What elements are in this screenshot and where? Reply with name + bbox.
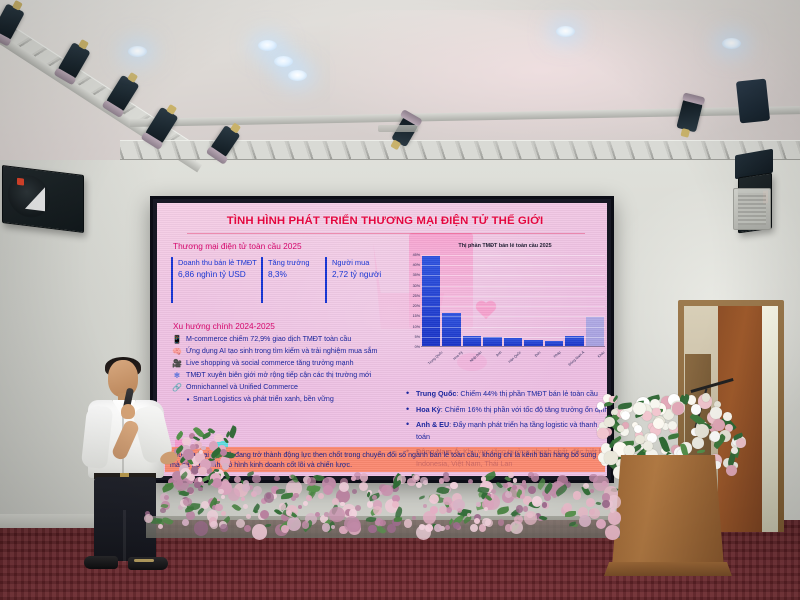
flower-bloom bbox=[329, 507, 345, 523]
ceiling-downlight-icon bbox=[274, 56, 293, 67]
chart-title: Thị phần TMĐT bán lẻ toàn cầu 2025 bbox=[401, 243, 607, 249]
wall-air-vent bbox=[733, 188, 771, 230]
flower-bloom bbox=[220, 524, 227, 531]
flower-bloom bbox=[513, 478, 518, 483]
flower-bloom bbox=[331, 525, 335, 529]
flower-bloom bbox=[264, 492, 275, 503]
chart-bar bbox=[483, 337, 501, 346]
list-item: 🧠 Ứng dụng AI tạo sinh trong tìm kiếm và… bbox=[171, 347, 403, 357]
flower-bloom bbox=[443, 497, 452, 506]
vent-grille-icon bbox=[738, 193, 766, 225]
pa-speaker-left bbox=[2, 165, 84, 233]
flower-bloom bbox=[381, 485, 392, 496]
flower-bloom bbox=[351, 476, 355, 480]
flower-bloom bbox=[183, 449, 193, 459]
chart-bar bbox=[545, 341, 563, 346]
list-item: Anh & EU: Đẩy mạnh phát triển hạ tầng lo… bbox=[405, 420, 607, 430]
chart-y-tick-label: 30% bbox=[402, 284, 420, 288]
chart-y-tick-label: 15% bbox=[402, 314, 420, 318]
trouser-seam bbox=[123, 510, 126, 562]
conference-room-scene: TÌNH HÌNH PHÁT TRIỂN THƯƠNG MẠI ĐIỆN TỬ … bbox=[0, 0, 800, 600]
flower-bloom bbox=[182, 519, 189, 526]
market-share-chart: Thị phần TMĐT bán lẻ toàn cầu 2025 45%40… bbox=[401, 243, 607, 383]
chart-gridline bbox=[421, 286, 605, 287]
flower-bloom bbox=[368, 525, 377, 534]
region-text: : Chiếm 44% thị phần TMĐT bán lẻ toàn cầ… bbox=[456, 389, 598, 398]
metric-value: 6,86 nghìn tỷ USD bbox=[178, 269, 246, 279]
title-underline bbox=[187, 233, 585, 234]
metric-label: Người mua bbox=[332, 258, 369, 267]
flower-bloom bbox=[590, 489, 594, 493]
flower-bloom bbox=[306, 495, 312, 501]
flower-bloom bbox=[668, 421, 677, 430]
flower-bloom bbox=[597, 428, 609, 440]
flower-leaf bbox=[393, 517, 402, 522]
flower-bloom bbox=[583, 483, 589, 489]
flower-bloom bbox=[387, 524, 396, 533]
flower-leaf bbox=[232, 503, 242, 513]
flower-bloom bbox=[503, 483, 508, 488]
list-item-continuation: toán bbox=[405, 432, 607, 442]
flower-bloom bbox=[710, 407, 721, 418]
ceiling-downlight-icon bbox=[722, 38, 741, 49]
region-text: : Chiếm 16% thị phần với tốc độ tăng trư… bbox=[441, 405, 607, 414]
metric-card-buyers: Người mua 2,72 tỷ người bbox=[325, 257, 401, 303]
flower-bloom bbox=[324, 478, 328, 482]
flower-bloom bbox=[221, 495, 225, 499]
section-heading-key-trends: Xu hướng chính 2024-2025 bbox=[173, 321, 275, 331]
flower-bloom bbox=[144, 514, 153, 523]
ceiling-vent bbox=[378, 125, 418, 132]
doorway-daylight bbox=[762, 306, 778, 532]
flower-leaf bbox=[223, 437, 229, 444]
flower-bloom bbox=[414, 475, 419, 480]
flower-bloom bbox=[633, 402, 646, 415]
region-text: : Đẩy mạnh phát triển hạ tầng logistic v… bbox=[449, 420, 597, 429]
flower-bloom bbox=[604, 451, 618, 465]
flower-bloom bbox=[372, 495, 377, 500]
flower-bloom bbox=[723, 412, 732, 421]
flower-bloom bbox=[617, 425, 624, 432]
stage-flower-row bbox=[146, 468, 620, 538]
flower-bloom bbox=[215, 504, 223, 512]
flower-bloom bbox=[692, 437, 704, 449]
flower-bloom bbox=[218, 489, 223, 494]
region-name: Trung Quốc bbox=[416, 389, 456, 398]
flower-bloom bbox=[360, 473, 369, 482]
ai-brain-icon: 🧠 bbox=[172, 347, 182, 356]
trend-text: Live shopping và social commerce tăng tr… bbox=[186, 359, 354, 367]
flower-bloom bbox=[183, 498, 191, 506]
flower-bloom bbox=[605, 525, 620, 540]
flower-bloom bbox=[482, 518, 491, 527]
speaker-highlight bbox=[25, 185, 45, 211]
flower-bloom bbox=[429, 494, 439, 504]
flower-leaf bbox=[595, 501, 601, 506]
chart-gridline bbox=[421, 265, 605, 266]
flower-bloom bbox=[528, 486, 537, 495]
flower-leaf bbox=[418, 495, 425, 500]
flower-bloom bbox=[532, 496, 542, 506]
chart-gridline bbox=[421, 337, 605, 338]
chart-y-tick-label: 0% bbox=[402, 345, 420, 349]
ceiling-downlight-icon bbox=[288, 70, 307, 81]
flower-bloom bbox=[252, 524, 267, 539]
flower-bloom bbox=[298, 505, 302, 509]
flower-bloom bbox=[457, 508, 462, 513]
chart-gridline bbox=[421, 316, 605, 317]
flower-bloom bbox=[228, 488, 241, 501]
list-item: ❄ TMĐT xuyên biên giới mở rộng tiếp cận … bbox=[171, 371, 403, 381]
section-heading-global-ecommerce: Thương mại điện tử toàn cầu 2025 bbox=[173, 241, 302, 251]
flower-bloom bbox=[450, 482, 458, 490]
corner-speaker bbox=[736, 79, 770, 124]
speaker-led-icon bbox=[17, 178, 24, 186]
chart-bar bbox=[422, 256, 440, 346]
chart-plot-area: 45%40%35%30%25%20%15%10%5%0% bbox=[421, 255, 605, 347]
chart-bar bbox=[586, 317, 604, 346]
flower-bloom bbox=[474, 518, 480, 524]
chart-bar bbox=[504, 338, 522, 346]
chart-bar bbox=[524, 340, 542, 346]
flower-bloom bbox=[522, 480, 527, 485]
flower-bloom bbox=[589, 508, 600, 519]
flower-bloom bbox=[484, 507, 488, 511]
flower-bloom bbox=[303, 501, 308, 506]
flower-bloom bbox=[416, 525, 431, 540]
trend-text: Smart Logistics và phát triển xanh, bền … bbox=[193, 395, 334, 403]
flower-bloom bbox=[322, 523, 330, 531]
flower-bloom bbox=[726, 465, 737, 476]
flower-leaf bbox=[697, 449, 705, 453]
flower-bloom bbox=[653, 418, 664, 429]
flower-bloom bbox=[286, 510, 292, 516]
flower-bloom bbox=[514, 515, 523, 524]
list-item: Hoa Kỳ: Chiếm 16% thị phần với tốc độ tă… bbox=[405, 405, 607, 415]
podium-base bbox=[604, 562, 732, 576]
flower-bloom bbox=[279, 503, 286, 510]
flower-leaf bbox=[161, 483, 174, 493]
region-name: Hoa Kỳ bbox=[416, 405, 441, 414]
chart-y-tick-label: 35% bbox=[402, 273, 420, 277]
list-item: 📱 M-commerce chiếm 72,9% giao dịch TMĐT … bbox=[171, 335, 403, 345]
flower-bloom bbox=[610, 508, 615, 513]
chart-y-tick-label: 40% bbox=[402, 263, 420, 267]
flower-bloom bbox=[324, 512, 328, 516]
trend-text: M-commerce chiếm 72,9% giao dịch TMĐT to… bbox=[186, 335, 351, 343]
ceiling-downlight-icon bbox=[556, 26, 575, 37]
presenter-shoe-left bbox=[84, 556, 118, 569]
flower-bloom bbox=[604, 417, 615, 428]
flower-bloom bbox=[443, 476, 449, 482]
ceiling-downlight-icon bbox=[258, 40, 277, 51]
metric-value: 2,72 tỷ người bbox=[332, 269, 381, 279]
flower-bloom bbox=[243, 504, 248, 509]
flower-bloom bbox=[710, 431, 720, 441]
ceiling-downlight-icon bbox=[128, 46, 147, 57]
region-text: toán bbox=[416, 432, 430, 441]
region-name: Anh & EU bbox=[416, 420, 449, 429]
flower-bloom bbox=[339, 482, 349, 492]
chart-bars bbox=[421, 255, 605, 346]
trend-text: TMĐT xuyên biên giới mở rộng tiếp cận cá… bbox=[186, 371, 371, 379]
slide-title: TÌNH HÌNH PHÁT TRIỂN THƯƠNG MẠI ĐIỆN TỬ … bbox=[157, 215, 607, 227]
flower-bloom bbox=[186, 511, 194, 519]
flower-bloom bbox=[332, 498, 339, 505]
trend-text: Omnichannel và Unified Commerce bbox=[186, 383, 298, 391]
chart-y-tick-label: 10% bbox=[402, 325, 420, 329]
chart-y-tick-label: 5% bbox=[402, 335, 420, 339]
flower-bloom bbox=[430, 506, 437, 513]
chart-x-axis-labels: Trung QuốcHoa KỳNhật BảnAnhHàn QuốcĐứcPh… bbox=[421, 349, 605, 379]
flower-bloom bbox=[634, 425, 642, 433]
flower-bloom bbox=[423, 504, 427, 508]
flower-bloom bbox=[318, 493, 324, 499]
flower-bloom bbox=[323, 485, 333, 495]
chart-y-tick-label: 25% bbox=[402, 294, 420, 298]
flower-bloom bbox=[446, 507, 452, 513]
chart-gridline bbox=[421, 296, 605, 297]
flower-bloom bbox=[476, 502, 480, 506]
chart-gridline bbox=[421, 327, 605, 328]
flower-bloom bbox=[491, 489, 496, 494]
flower-leaf bbox=[497, 506, 510, 514]
chart-gridline bbox=[421, 275, 605, 276]
wooden-podium bbox=[612, 455, 724, 567]
flower-bloom bbox=[160, 508, 165, 513]
list-item: 🎥 Live shopping và social commerce tăng … bbox=[171, 359, 403, 369]
flower-bloom bbox=[542, 502, 547, 507]
flower-bloom bbox=[201, 501, 209, 509]
flower-bloom bbox=[586, 498, 595, 507]
flower-bloom bbox=[621, 411, 630, 420]
list-item: Trung Quốc: Chiếm 44% thị phần TMĐT bán … bbox=[405, 389, 607, 399]
flower-bloom bbox=[544, 494, 551, 501]
flower-bloom bbox=[241, 497, 246, 502]
trend-bullet-list: 📱 M-commerce chiếm 72,9% giao dịch TMĐT … bbox=[171, 335, 403, 408]
flower-bloom bbox=[222, 482, 226, 486]
flower-bloom bbox=[736, 438, 746, 448]
trend-text: Ứng dụng AI tạo sinh trong tìm kiếm và t… bbox=[186, 347, 377, 355]
flower-bloom bbox=[505, 524, 512, 531]
flower-bloom bbox=[481, 476, 486, 481]
flower-bloom bbox=[573, 491, 582, 500]
list-item: 🔗 Omnichannel và Unified Commerce bbox=[171, 383, 403, 393]
metric-card-growth: Tăng trưởng 8,3% bbox=[261, 257, 323, 303]
flower-bloom bbox=[243, 480, 249, 486]
flower-bloom bbox=[352, 489, 357, 494]
chart-bar bbox=[442, 313, 460, 346]
flower-bloom bbox=[210, 521, 218, 529]
flower-bloom bbox=[246, 514, 251, 519]
flower-bloom bbox=[434, 524, 442, 532]
flower-bloom bbox=[307, 477, 316, 486]
chart-y-tick-label: 45% bbox=[402, 253, 420, 257]
chart-gridline bbox=[421, 306, 605, 307]
presenter-hand-holding-mic bbox=[121, 404, 135, 419]
list-item: • Smart Logistics và phát triển xanh, bề… bbox=[171, 395, 403, 405]
flower-bloom bbox=[214, 434, 223, 443]
flower-bloom bbox=[691, 404, 701, 414]
flower-bloom bbox=[253, 486, 262, 495]
flower-bloom bbox=[373, 506, 382, 515]
flower-bloom bbox=[252, 475, 261, 484]
flower-bloom bbox=[416, 482, 422, 488]
flower-bloom bbox=[608, 511, 621, 524]
metric-label: Doanh thu bán lẻ TMĐT bbox=[178, 258, 257, 267]
flower-bloom bbox=[194, 521, 208, 535]
flower-bloom bbox=[274, 476, 279, 481]
metric-card-retail-revenue: Doanh thu bán lẻ TMĐT 6,86 nghìn tỷ USD bbox=[171, 257, 259, 303]
flower-bloom bbox=[404, 519, 412, 527]
flower-bloom bbox=[508, 472, 513, 477]
metric-label: Tăng trưởng bbox=[268, 258, 309, 267]
flower-leaf bbox=[668, 433, 679, 440]
chart-gridline bbox=[421, 255, 605, 256]
flower-bloom bbox=[695, 424, 709, 438]
chart-y-tick-label: 20% bbox=[402, 304, 420, 308]
presenter-shoe-right bbox=[128, 557, 168, 570]
metric-value: 8,3% bbox=[268, 269, 287, 279]
flower-bloom bbox=[589, 474, 598, 483]
metric-cards: Doanh thu bán lẻ TMĐT 6,86 nghìn tỷ USD … bbox=[171, 257, 399, 303]
flower-leaf bbox=[251, 504, 260, 514]
flower-bloom bbox=[439, 506, 447, 514]
flower-bloom bbox=[244, 525, 251, 532]
flower-bloom bbox=[468, 479, 473, 484]
flower-bloom bbox=[528, 472, 534, 478]
flower-leaf bbox=[496, 481, 503, 489]
mobile-phone-icon: 📱 bbox=[172, 335, 182, 344]
flower-bloom bbox=[198, 487, 203, 492]
